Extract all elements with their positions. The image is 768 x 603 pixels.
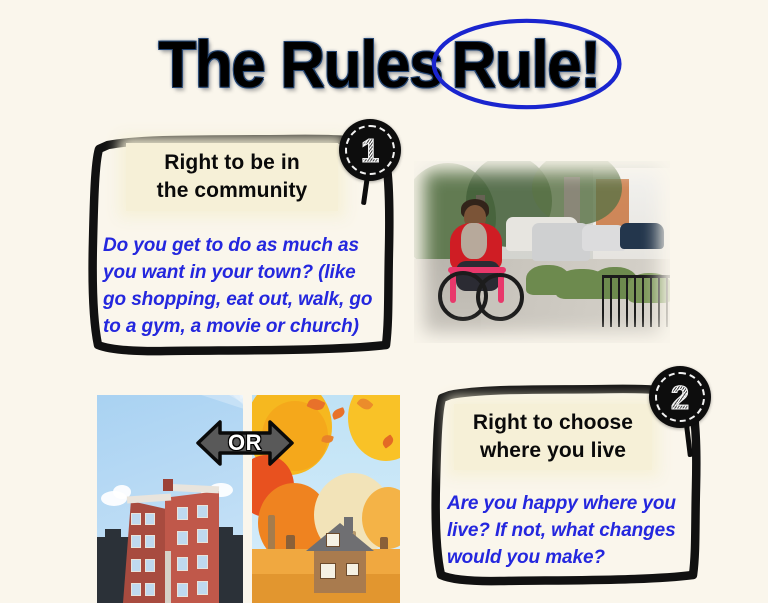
card-1-heading-line-1: Right to be in	[164, 149, 300, 177]
badge-2-number-text: 2	[671, 381, 689, 414]
badge-1-number-text: 1	[361, 134, 379, 167]
card-2-question-line-2: live? If not, what changes	[447, 518, 695, 545]
badge-number-2: 2	[649, 366, 711, 428]
card-1-question-line-1: Do you get to do as much as	[103, 233, 393, 260]
card-2-heading-line-1: Right to choose	[473, 409, 633, 437]
page-title: The Rules Rule!	[0, 18, 768, 110]
card-2-heading-plate: Right to choose where you live	[454, 404, 652, 470]
photo-community-participation	[414, 161, 670, 343]
title-circled-word-wrap: Rule!	[442, 31, 609, 97]
title-text-emphasis: Rule!	[452, 27, 600, 101]
badge-number-1: 1	[339, 119, 401, 181]
card-1-question-line-2: you want in your town? (like	[103, 260, 393, 287]
card-1-question: Do you get to do as much as you want in …	[103, 233, 393, 341]
card-1-heading-line-2: the community	[157, 177, 308, 205]
card-2-question: Are you happy where you live? If not, wh…	[447, 491, 695, 572]
card-2-question-line-3: would you make?	[447, 545, 695, 572]
slide-canvas: The Rules Rule! Right to be in the commu…	[0, 0, 768, 603]
or-double-arrow: OR	[196, 418, 294, 468]
card-2-heading-line-2: where you live	[480, 437, 626, 465]
title-text-main: The Rules	[159, 31, 443, 97]
card-2-question-line-1: Are you happy where you	[447, 491, 695, 518]
card-1-heading-plate: Right to be in the community	[126, 143, 338, 211]
or-label-text: OR	[228, 430, 262, 456]
card-1-question-line-3: go shopping, eat out, walk, go	[103, 287, 393, 314]
card-1-question-line-4: to a gym, a movie or church)	[103, 314, 393, 341]
